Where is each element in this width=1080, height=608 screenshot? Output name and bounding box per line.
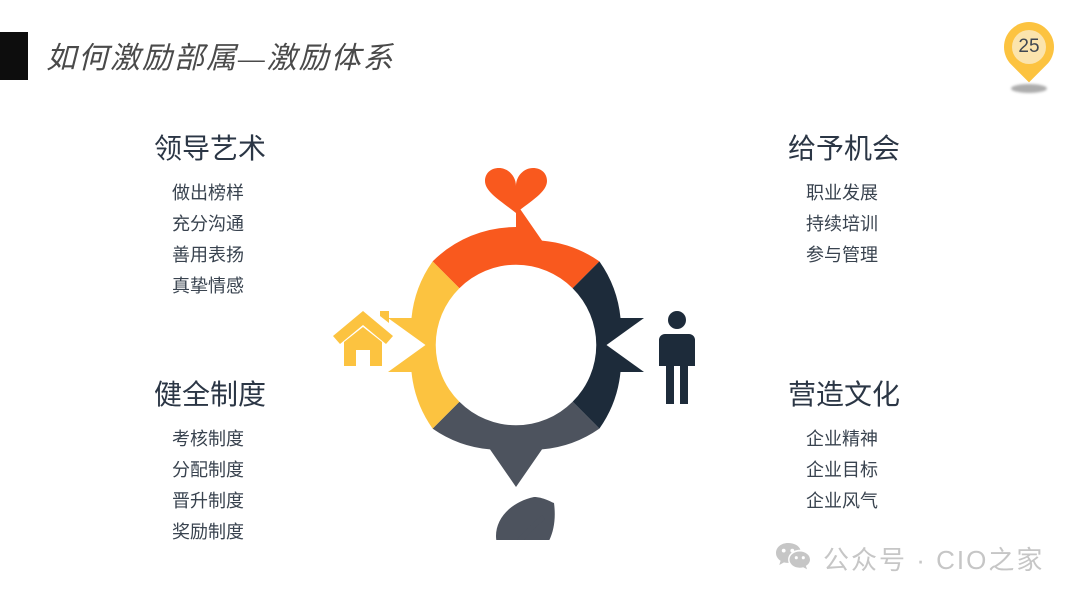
page-title: 如何激励部属—激励体系 <box>46 33 395 77</box>
segment-top[interactable] <box>433 203 600 288</box>
heart-icon <box>485 168 547 213</box>
block-opportunity-heading: 给予机会 <box>788 134 900 165</box>
block-culture-items: 企业精神 企业目标 企业风气 <box>806 424 900 517</box>
list-item: 晋升制度 <box>172 486 266 517</box>
house-icon <box>333 311 393 366</box>
pin-shadow <box>1011 84 1047 93</box>
list-item: 真挚情感 <box>172 271 266 302</box>
list-item: 持续培训 <box>806 209 900 240</box>
central-cycle-diagram <box>296 140 736 540</box>
list-item: 考核制度 <box>172 424 266 455</box>
person-icon <box>659 311 695 404</box>
block-leadership-heading: 领导艺术 <box>154 134 266 165</box>
list-item: 分配制度 <box>172 455 266 486</box>
list-item: 善用表扬 <box>172 240 266 271</box>
list-item: 充分沟通 <box>172 209 266 240</box>
list-item: 参与管理 <box>806 240 900 271</box>
block-leadership: 领导艺术 做出榜样 充分沟通 善用表扬 真挚情感 <box>148 134 266 302</box>
list-item: 职业发展 <box>806 178 900 209</box>
block-leadership-items: 做出榜样 充分沟通 善用表扬 真挚情感 <box>172 178 266 302</box>
list-item: 企业目标 <box>806 455 900 486</box>
watermark-text: 公众号 · CIO之家 <box>823 540 1044 577</box>
list-item: 企业精神 <box>806 424 900 455</box>
block-opportunity-items: 职业发展 持续培训 参与管理 <box>806 178 900 271</box>
title-bar: 如何激励部属—激励体系 <box>0 0 1080 112</box>
block-system: 健全制度 考核制度 分配制度 晋升制度 奖励制度 <box>148 380 266 548</box>
block-system-heading: 健全制度 <box>154 380 266 411</box>
slide: 如何激励部属—激励体系 25 领导艺术 做出榜样 充分沟通 善用表扬 真挚情感 … <box>0 0 1080 608</box>
leaf-icon <box>496 497 555 540</box>
wechat-icon <box>775 541 811 576</box>
list-item: 企业风气 <box>806 486 900 517</box>
block-system-items: 考核制度 分配制度 晋升制度 奖励制度 <box>172 424 266 548</box>
list-item: 奖励制度 <box>172 517 266 548</box>
page-number: 25 <box>1004 30 1054 64</box>
block-culture-heading: 营造文化 <box>788 380 900 411</box>
block-culture: 营造文化 企业精神 企业目标 企业风气 <box>788 380 900 517</box>
page-number-pin: 25 <box>1004 22 1054 94</box>
title-accent-block <box>0 32 28 80</box>
block-opportunity: 给予机会 职业发展 持续培训 参与管理 <box>788 134 900 271</box>
watermark: 公众号 · CIO之家 <box>775 540 1044 577</box>
segment-left[interactable] <box>388 261 459 428</box>
segment-bottom[interactable] <box>433 402 600 487</box>
segment-right[interactable] <box>573 261 644 428</box>
list-item: 做出榜样 <box>172 178 266 209</box>
